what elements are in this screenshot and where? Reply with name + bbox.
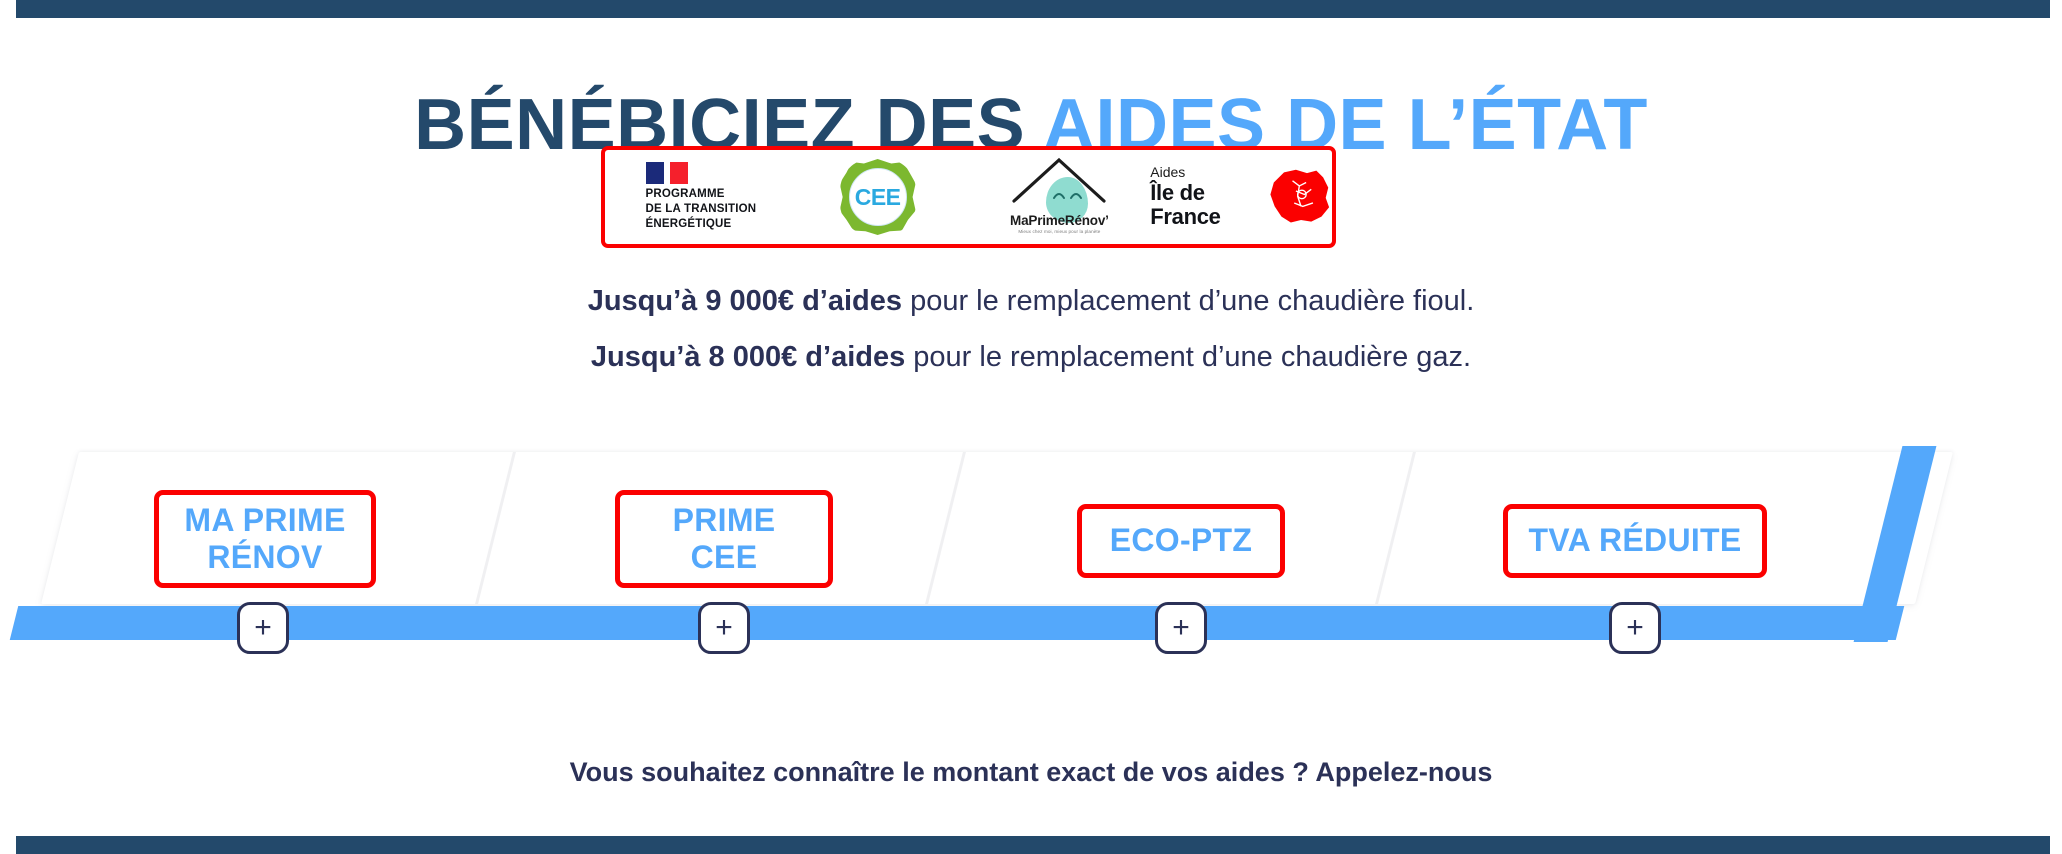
aid-sentence-gaz-amount: Jusqu’à 8 000€ d’aides (591, 341, 905, 373)
maprimerenov-tagline: Mieux chez moi, mieux pour la planète (984, 229, 1134, 234)
toggle-tva-reduite[interactable]: + (1609, 602, 1661, 654)
toggle-prime-cee[interactable]: + (698, 602, 750, 654)
aid-sentence-gaz-rest: pour le remplacement d’une chaudière gaz… (905, 341, 1471, 373)
maprimerenov-label: MaPrimeRénov’ (984, 213, 1134, 228)
logo-maprimerenov: MaPrimeRénov’ Mieux chez moi, mieux pour… (969, 150, 1151, 244)
ile-de-france-map-icon (1267, 164, 1332, 230)
idf-label-small: Aides (1150, 165, 1185, 180)
top-navy-bar (16, 0, 2050, 18)
aid-box-eco-ptz-label: ECO-PTZ (1110, 522, 1253, 559)
aid-box-prime-cee-label: PRIME CEE (673, 502, 776, 576)
aid-box-ma-prime-renov[interactable]: MA PRIME RÉNOV (154, 490, 376, 588)
idf-label-big: Île de France (1150, 181, 1261, 229)
aid-box-ma-prime-renov-label: MA PRIME RÉNOV (184, 502, 345, 576)
plus-icon: + (1172, 613, 1190, 643)
cee-label: CEE (855, 184, 901, 211)
plus-icon: + (254, 613, 272, 643)
logo-programme-line-2: DE LA TRANSITION (646, 202, 757, 217)
aid-sentence-fioul-amount: Jusqu’à 9 000€ d’aides (588, 285, 902, 317)
logo-programme-transition-energetique: PROGRAMME DE LA TRANSITION ÉNERGÉTIQUE (605, 150, 787, 244)
aid-box-eco-ptz[interactable]: ECO-PTZ (1077, 504, 1285, 578)
plus-icon: + (1626, 613, 1644, 643)
aid-sentence-fioul-rest: pour le remplacement d’une chaudière fio… (902, 285, 1474, 317)
logo-programme-line-3: ÉNERGÉTIQUE (646, 217, 757, 232)
aid-sentence-gaz: Jusqu’à 8 000€ d’aides pour le remplacem… (0, 341, 2062, 374)
bottom-navy-bar (16, 836, 2050, 854)
aid-box-prime-cee[interactable]: PRIME CEE (615, 490, 833, 588)
partner-logos-strip: PROGRAMME DE LA TRANSITION ÉNERGÉTIQUE C… (601, 146, 1336, 248)
aid-box-tva-reduite-label: TVA RÉDUITE (1528, 522, 1741, 559)
french-flag-icon (646, 162, 757, 184)
plus-icon: + (715, 613, 733, 643)
cee-inner-circle: CEE (849, 168, 907, 226)
toggle-ma-prime-renov[interactable]: + (237, 602, 289, 654)
toggle-eco-ptz[interactable]: + (1155, 602, 1207, 654)
footer-call-prompt: Vous souhaitez connaître le montant exac… (0, 757, 2062, 788)
logo-cee: CEE (787, 150, 969, 244)
logo-aides-ile-de-france: Aides Île de France (1150, 150, 1332, 244)
aid-sentence-fioul: Jusqu’à 9 000€ d’aides pour le remplacem… (0, 285, 2062, 318)
smiling-eyes-icon (1052, 189, 1084, 201)
aid-box-tva-reduite[interactable]: TVA RÉDUITE (1503, 504, 1767, 578)
logo-programme-label: PROGRAMME DE LA TRANSITION ÉNERGÉTIQUE (646, 187, 757, 231)
logo-programme-line-1: PROGRAMME (646, 187, 757, 202)
